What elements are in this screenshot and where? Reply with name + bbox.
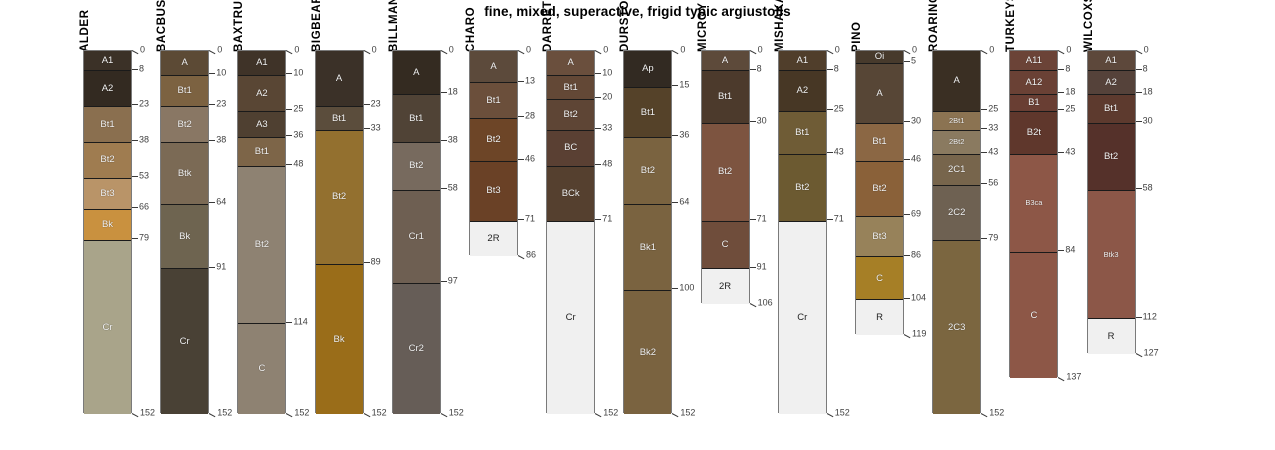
soil-horizon: C: [856, 256, 903, 299]
horizon-label: Bt1: [332, 114, 346, 124]
soil-horizon: B1: [1010, 94, 1057, 111]
tick-label: 13: [525, 76, 535, 85]
tick-label: 18: [1143, 88, 1153, 97]
tick-mark: [904, 121, 910, 122]
tick-label: 89: [371, 258, 381, 267]
tick-mark: [595, 73, 601, 74]
horizon-label: Bt1: [409, 114, 423, 124]
soil-horizon: Bt1: [779, 111, 826, 154]
soil-horizon: A1: [238, 51, 285, 75]
profile-site-label: MICROY: [697, 2, 709, 52]
tick-mark: [595, 219, 601, 220]
soil-horizon: 2C3: [933, 240, 980, 414]
horizon-label: Bt2: [641, 166, 655, 176]
tick-label: 46: [911, 155, 921, 164]
soil-horizon: Bt1: [84, 106, 131, 142]
profile-site-label: BILLMAN: [388, 0, 400, 52]
tick-mark: [364, 104, 370, 105]
tick-label: 8: [139, 64, 144, 73]
horizon-label: B2t: [1027, 128, 1041, 138]
tick-label: 23: [371, 100, 381, 109]
tick-label: 86: [526, 250, 536, 259]
tick-mark: [518, 50, 525, 54]
horizon-label: A11: [1026, 56, 1042, 66]
tick-mark: [286, 322, 292, 323]
soil-horizon: 2R: [470, 221, 517, 257]
soil-horizon: Bt2: [470, 118, 517, 161]
horizon-label: A: [336, 74, 342, 84]
tick-mark: [1135, 50, 1142, 54]
tick-label: 69: [911, 210, 921, 219]
tick-label: 30: [1143, 117, 1153, 126]
soil-horizon: Bt1: [624, 87, 671, 137]
horizon-label: C: [722, 240, 729, 250]
horizon-label: 2C2: [948, 208, 965, 218]
tick-label: 152: [372, 408, 387, 417]
tick-label: 53: [139, 172, 149, 181]
soil-horizon: R: [1088, 318, 1135, 354]
tick-label: 58: [448, 184, 458, 193]
tick-mark: [209, 104, 215, 105]
tick-mark: [595, 97, 601, 98]
tick-label: 30: [757, 117, 767, 126]
tick-mark: [904, 298, 910, 299]
tick-mark: [672, 413, 679, 417]
tick-label: 112: [1143, 312, 1157, 321]
tick-mark: [518, 255, 525, 259]
tick-mark: [209, 202, 215, 203]
tick-mark: [1058, 250, 1064, 251]
soil-horizon: A2: [84, 70, 131, 106]
tick-label: 152: [989, 408, 1004, 417]
tick-mark: [132, 104, 138, 105]
tick-label: 43: [1065, 148, 1075, 157]
profile-site-label: WILCOXSON: [1083, 0, 1095, 52]
tick-mark: [364, 128, 370, 129]
tick-mark: [750, 69, 756, 70]
tick-mark: [1058, 152, 1064, 153]
soil-horizon: Btk3: [1088, 190, 1135, 319]
tick-mark: [286, 164, 292, 165]
tick-label: 152: [294, 408, 309, 417]
tick-label: 10: [602, 69, 612, 78]
profile-column: ABt1Bt2Bt32R: [469, 50, 518, 255]
soil-horizon: A: [161, 51, 208, 75]
soil-horizon: 2Bt1: [933, 111, 980, 130]
tick-mark: [595, 164, 601, 165]
soil-horizon: Bt1: [856, 123, 903, 161]
tick-mark: [749, 303, 756, 307]
tick-label: 33: [371, 124, 381, 133]
horizon-label: Bt1: [641, 108, 655, 118]
tick-mark: [672, 50, 679, 54]
soil-horizon: A11: [1010, 51, 1057, 70]
soil-horizon: Bk: [84, 209, 131, 240]
tick-mark: [750, 121, 756, 122]
tick-mark: [441, 92, 447, 93]
horizon-label: Bt1: [255, 147, 269, 157]
horizon-label: Bk2: [640, 348, 656, 358]
tick-label: 0: [912, 45, 917, 54]
profile-column: ABt1Bt2BtkBkCr: [160, 50, 209, 413]
profile-column: OiABt1Bt2Bt3CR: [855, 50, 904, 334]
soil-horizon: Bt1: [238, 137, 285, 166]
horizon-label: A: [182, 58, 188, 68]
profile-site-label: BACBUSTER: [156, 0, 168, 52]
tick-mark: [1136, 121, 1142, 122]
soil-horizon: A: [933, 51, 980, 111]
tick-mark: [672, 288, 678, 289]
horizon-label: Bt2: [178, 120, 192, 130]
tick-label: 25: [988, 105, 998, 114]
soil-profile-chart: ALDERA1A2Bt1Bt2Bt3BkCr082338536679152BAC…: [0, 0, 1275, 450]
horizon-label: Bt2: [564, 110, 578, 120]
tick-mark: [286, 413, 293, 417]
tick-label: 56: [988, 179, 998, 188]
tick-mark: [981, 238, 987, 239]
soil-horizon: C: [1010, 252, 1057, 379]
tick-label: 79: [139, 234, 149, 243]
horizon-label: Cr: [180, 337, 190, 347]
tick-mark: [286, 50, 293, 54]
tick-label: 18: [448, 88, 458, 97]
tick-label: 0: [758, 45, 763, 54]
horizon-label: A: [954, 76, 960, 86]
tick-mark: [904, 159, 910, 160]
horizon-label: Bk: [102, 220, 113, 230]
soil-horizon: A1: [1088, 51, 1135, 70]
soil-horizon: Bt2: [161, 106, 208, 142]
tick-label: 0: [680, 45, 685, 54]
soil-horizon: 2C2: [933, 185, 980, 240]
tick-label: 0: [294, 45, 299, 54]
soil-horizon: A1: [84, 51, 131, 70]
tick-mark: [981, 109, 987, 110]
soil-horizon: A: [316, 51, 363, 106]
tick-label: 8: [1065, 64, 1070, 73]
soil-horizon: Ap: [624, 51, 671, 87]
tick-label: 36: [679, 131, 689, 140]
horizon-label: Bk1: [640, 243, 656, 253]
profile-site-label: DARRET: [542, 0, 554, 52]
soil-horizon: 2C1: [933, 154, 980, 185]
tick-mark: [209, 50, 216, 54]
tick-label: 23: [139, 100, 149, 109]
tick-label: 10: [293, 69, 303, 78]
tick-label: 152: [603, 408, 618, 417]
soil-horizon: Oi: [856, 51, 903, 63]
tick-label: 0: [1144, 45, 1149, 54]
tick-mark: [595, 413, 602, 417]
tick-mark: [441, 413, 448, 417]
horizon-label: Bt3: [486, 186, 500, 196]
soil-horizon: Cr2: [393, 283, 440, 414]
tick-mark: [363, 413, 370, 417]
tick-label: 114: [293, 317, 307, 326]
horizon-label: A: [568, 58, 574, 68]
horizon-label: A: [413, 68, 419, 78]
soil-horizon: R: [856, 299, 903, 335]
soil-horizon: BC: [547, 130, 594, 166]
horizon-label: A: [722, 56, 728, 66]
soil-horizon: Bt1: [702, 70, 749, 123]
soil-horizon: A: [702, 51, 749, 70]
tick-label: 100: [679, 284, 694, 293]
soil-horizon: B3ca: [1010, 154, 1057, 252]
horizon-label: A2: [102, 84, 114, 94]
profile-column: ABt1Bt2C2R: [701, 50, 750, 303]
profile-site-label: MISHAKAL: [774, 0, 786, 52]
soil-horizon: A3: [238, 111, 285, 137]
horizon-label: A: [490, 62, 496, 72]
tick-label: 71: [602, 215, 612, 224]
horizon-label: Bt3: [872, 232, 886, 242]
tick-label: 48: [602, 160, 612, 169]
soil-horizon: Cr: [84, 240, 131, 414]
tick-label: 10: [216, 69, 226, 78]
soil-horizon: Bt2: [393, 142, 440, 190]
profile-column: A1A2Bt1Bt2Btk3R: [1087, 50, 1136, 353]
tick-label: 8: [834, 64, 839, 73]
horizon-label: Btk: [178, 169, 192, 179]
tick-label: 152: [449, 408, 464, 417]
tick-label: 152: [835, 408, 850, 417]
tick-mark: [1135, 353, 1142, 357]
tick-mark: [1058, 92, 1064, 93]
horizon-label: Bt2: [409, 161, 423, 171]
horizon-label: A3: [256, 120, 268, 130]
tick-label: 97: [448, 277, 458, 286]
soil-horizon: Bt1: [316, 106, 363, 130]
profile-site-label: TURKEYSPRINGS: [1005, 0, 1017, 52]
soil-horizon: A: [547, 51, 594, 75]
tick-label: 86: [911, 250, 921, 259]
profile-site-label: BIGBEAR: [311, 0, 323, 52]
tick-mark: [1136, 92, 1142, 93]
soil-horizon: Bt2: [547, 99, 594, 130]
horizon-label: Bk: [179, 232, 190, 242]
profile-column: ABt1Bt2Bk: [315, 50, 364, 413]
tick-mark: [132, 176, 138, 177]
tick-label: 46: [525, 155, 535, 164]
tick-mark: [672, 135, 678, 136]
horizon-label: BCk: [562, 189, 580, 199]
soil-horizon: Bt2: [1088, 123, 1135, 190]
tick-label: 0: [217, 45, 222, 54]
tick-mark: [1058, 109, 1064, 110]
tick-label: 91: [757, 262, 767, 271]
tick-mark: [827, 50, 834, 54]
horizon-label: 2Bt1: [949, 117, 964, 125]
horizon-label: A2: [1105, 78, 1117, 88]
tick-label: 84: [1065, 246, 1075, 255]
soil-horizon: Bt1: [547, 75, 594, 99]
tick-label: 0: [989, 45, 994, 54]
tick-mark: [1136, 317, 1142, 318]
tick-label: 79: [988, 234, 998, 243]
tick-mark: [1058, 377, 1065, 381]
tick-mark: [672, 85, 678, 86]
soil-horizon: Bt2: [316, 130, 363, 264]
tick-mark: [750, 267, 756, 268]
tick-mark: [595, 50, 602, 54]
tick-label: 8: [1143, 64, 1148, 73]
soil-horizon: B2t: [1010, 111, 1057, 154]
tick-label: 119: [912, 329, 926, 338]
tick-mark: [981, 413, 988, 417]
soil-horizon: Bk: [161, 204, 208, 268]
horizon-label: A1: [1105, 56, 1117, 66]
tick-mark: [827, 219, 833, 220]
horizon-label: C: [258, 364, 265, 374]
tick-label: 23: [216, 100, 226, 109]
horizon-label: Cr: [102, 323, 112, 333]
tick-mark: [981, 152, 987, 153]
tick-label: 137: [1066, 372, 1081, 381]
profile-column: ABt1Bt2BCBCkCr: [546, 50, 595, 413]
soil-horizon: A: [856, 63, 903, 123]
tick-mark: [981, 183, 987, 184]
profile-site-label: DURSTON: [619, 0, 631, 52]
tick-label: 48: [293, 160, 303, 169]
tick-mark: [518, 116, 524, 117]
tick-label: 43: [988, 148, 998, 157]
soil-horizon: Btk: [161, 142, 208, 204]
tick-label: 0: [526, 45, 531, 54]
tick-label: 71: [834, 215, 844, 224]
soil-horizon: Bt2: [856, 161, 903, 216]
tick-label: 0: [1066, 45, 1071, 54]
soil-horizon: Bt3: [84, 178, 131, 209]
tick-mark: [750, 219, 756, 220]
tick-label: 58: [1143, 184, 1153, 193]
tick-mark: [441, 50, 448, 54]
horizon-label: A12: [1025, 78, 1042, 88]
horizon-label: A1: [256, 58, 268, 68]
tick-mark: [364, 262, 370, 263]
tick-mark: [904, 214, 910, 215]
tick-mark: [827, 69, 833, 70]
tick-label: 152: [680, 408, 695, 417]
tick-mark: [827, 109, 833, 110]
tick-mark: [209, 413, 216, 417]
tick-mark: [132, 207, 138, 208]
soil-horizon: Bt2: [624, 137, 671, 204]
tick-label: 38: [139, 136, 149, 145]
horizon-label: Cr: [566, 313, 576, 323]
soil-horizon: Cr1: [393, 190, 440, 283]
tick-mark: [981, 128, 987, 129]
tick-mark: [1136, 188, 1142, 189]
horizon-label: A2: [796, 86, 808, 96]
soil-horizon: Bk1: [624, 204, 671, 290]
tick-mark: [209, 73, 215, 74]
tick-label: 104: [911, 293, 926, 302]
soil-horizon: A1: [779, 51, 826, 70]
tick-label: 18: [1065, 88, 1075, 97]
tick-mark: [749, 50, 756, 54]
soil-horizon: Bt3: [470, 161, 517, 221]
tick-label: 0: [603, 45, 608, 54]
soil-horizon: A: [393, 51, 440, 94]
tick-mark: [518, 81, 524, 82]
tick-mark: [595, 128, 601, 129]
profile-column: ABt1Bt2Cr1Cr2: [392, 50, 441, 413]
horizon-label: Bt1: [178, 86, 192, 96]
tick-label: 38: [216, 136, 226, 145]
tick-label: 71: [525, 215, 535, 224]
soil-horizon: Bt3: [856, 216, 903, 257]
tick-mark: [132, 69, 138, 70]
soil-horizon: A: [470, 51, 517, 82]
tick-label: 36: [293, 131, 303, 140]
tick-label: 0: [140, 45, 145, 54]
horizon-label: A1: [102, 56, 114, 66]
profile-column: A1A2A3Bt1Bt2C: [237, 50, 286, 413]
horizon-label: B1: [1028, 98, 1040, 108]
soil-horizon: Bt2: [779, 154, 826, 221]
tick-label: 0: [449, 45, 454, 54]
tick-label: 30: [911, 117, 921, 126]
horizon-label: Bt3: [100, 189, 114, 199]
horizon-label: Bt1: [1104, 104, 1118, 114]
tick-label: 71: [757, 215, 767, 224]
tick-mark: [672, 202, 678, 203]
horizon-label: Bt2: [332, 192, 346, 202]
horizon-label: Bt2: [100, 155, 114, 165]
horizon-label: Bt1: [795, 128, 809, 138]
tick-label: 25: [1065, 105, 1075, 114]
tick-mark: [518, 159, 524, 160]
tick-mark: [132, 140, 138, 141]
horizon-label: Bt2: [795, 183, 809, 193]
profile-site-label: ALDER: [79, 9, 91, 52]
tick-mark: [132, 50, 139, 54]
tick-mark: [1058, 69, 1064, 70]
profile-site-label: PINO: [851, 21, 863, 52]
horizon-label: Cr2: [409, 344, 424, 354]
horizon-label: Bt2: [872, 184, 886, 194]
tick-mark: [904, 61, 910, 62]
tick-mark: [209, 267, 215, 268]
profile-column: A1A2Bt1Bt2Cr: [778, 50, 827, 413]
profile-column: A2Bt12Bt22C12C22C3: [932, 50, 981, 413]
tick-label: 127: [1144, 348, 1159, 357]
soil-horizon: Bt1: [393, 94, 440, 142]
horizon-label: BC: [564, 143, 577, 153]
tick-label: 33: [988, 124, 998, 133]
horizon-label: Cr: [797, 313, 807, 323]
soil-horizon: Bt2: [84, 142, 131, 178]
profile-site-label: CHARO: [465, 7, 477, 52]
horizon-label: A: [876, 89, 882, 99]
tick-mark: [827, 413, 834, 417]
tick-label: 25: [834, 105, 844, 114]
horizon-label: 2R: [487, 234, 499, 244]
soil-horizon: A2: [1088, 70, 1135, 94]
soil-horizon: Bt1: [470, 82, 517, 118]
horizon-label: R: [1108, 332, 1115, 342]
tick-label: 152: [140, 408, 155, 417]
horizon-label: Bt1: [564, 83, 578, 93]
horizon-label: Cr1: [409, 232, 424, 242]
horizon-label: A1: [796, 56, 808, 66]
soil-horizon: Cr: [547, 221, 594, 414]
soil-horizon: Bt1: [1088, 94, 1135, 123]
tick-mark: [132, 238, 138, 239]
horizon-label: 2R: [719, 282, 731, 292]
tick-label: 64: [216, 198, 226, 207]
